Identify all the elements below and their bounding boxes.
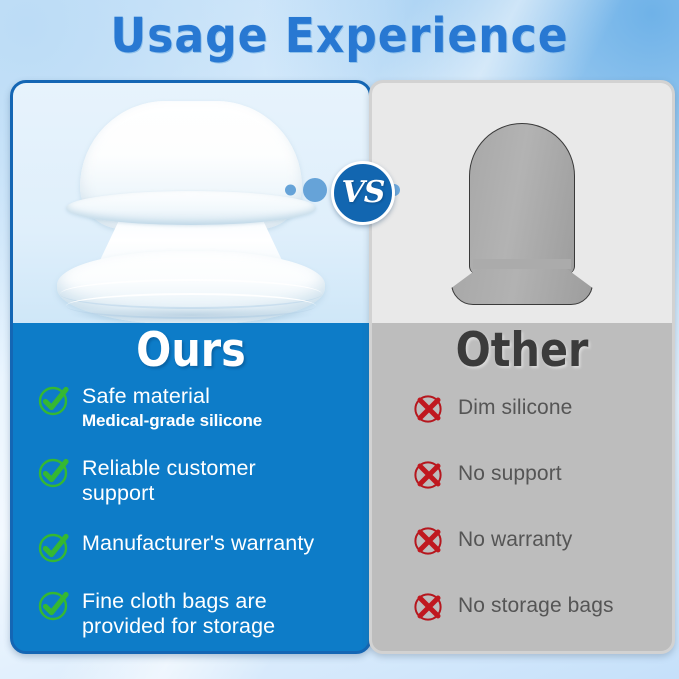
other-panel: Other Dim silicone No s — [369, 80, 675, 654]
other-product-photo — [372, 83, 672, 323]
cross-circle-icon — [412, 457, 446, 491]
list-item-label: Reliable customer support — [82, 456, 282, 506]
check-circle-icon — [37, 588, 71, 622]
list-item: No storage bags — [412, 589, 662, 623]
list-item-label: Safe material — [82, 384, 262, 409]
list-item-label: No support — [458, 462, 562, 486]
other-heading: Other — [390, 323, 654, 378]
list-item: Dim silicone — [412, 391, 662, 425]
gray-cup-join-shape — [473, 259, 571, 269]
vs-badge-icon: VS — [331, 161, 395, 225]
infographic-canvas: Usage Experience Ours Safe ma — [0, 0, 679, 679]
cup-shadow — [66, 307, 316, 323]
ours-feature-list: Safe material Medical-grade silicone Rel… — [37, 383, 357, 654]
list-item-label: Manufacturer's warranty — [82, 531, 314, 556]
cross-circle-icon — [412, 523, 446, 557]
check-circle-icon — [37, 530, 71, 564]
decorative-dot — [303, 178, 327, 202]
decorative-dot — [285, 185, 296, 196]
list-item: Fine cloth bags are provided for storage — [37, 588, 357, 639]
vs-badge-label: VS — [342, 178, 385, 208]
check-circle-icon — [37, 455, 71, 489]
list-item-label: No warranty — [458, 528, 572, 552]
cross-circle-icon — [412, 391, 446, 425]
gray-cup-body-shape — [469, 123, 575, 274]
list-item: Manufacturer's warranty — [37, 530, 357, 564]
other-feature-list: Dim silicone No support — [412, 391, 662, 654]
list-item-sublabel: Medical-grade silicone — [82, 410, 262, 431]
list-item: No warranty — [412, 523, 662, 557]
list-item-label: Fine cloth bags are provided for storage — [82, 589, 297, 639]
check-circle-icon — [37, 383, 71, 417]
cross-circle-icon — [412, 589, 446, 623]
ours-heading: Ours — [34, 323, 347, 378]
cup-lip-shape — [66, 191, 316, 225]
list-item-label: Dim silicone — [458, 396, 572, 420]
page-title: Usage Experience — [27, 8, 652, 64]
list-item-label: No storage bags — [458, 594, 614, 618]
list-item: Reliable customer support — [37, 455, 357, 506]
list-item: Safe material Medical-grade silicone — [37, 383, 357, 431]
list-item: No support — [412, 457, 662, 491]
vs-divider: VS — [285, 162, 397, 218]
